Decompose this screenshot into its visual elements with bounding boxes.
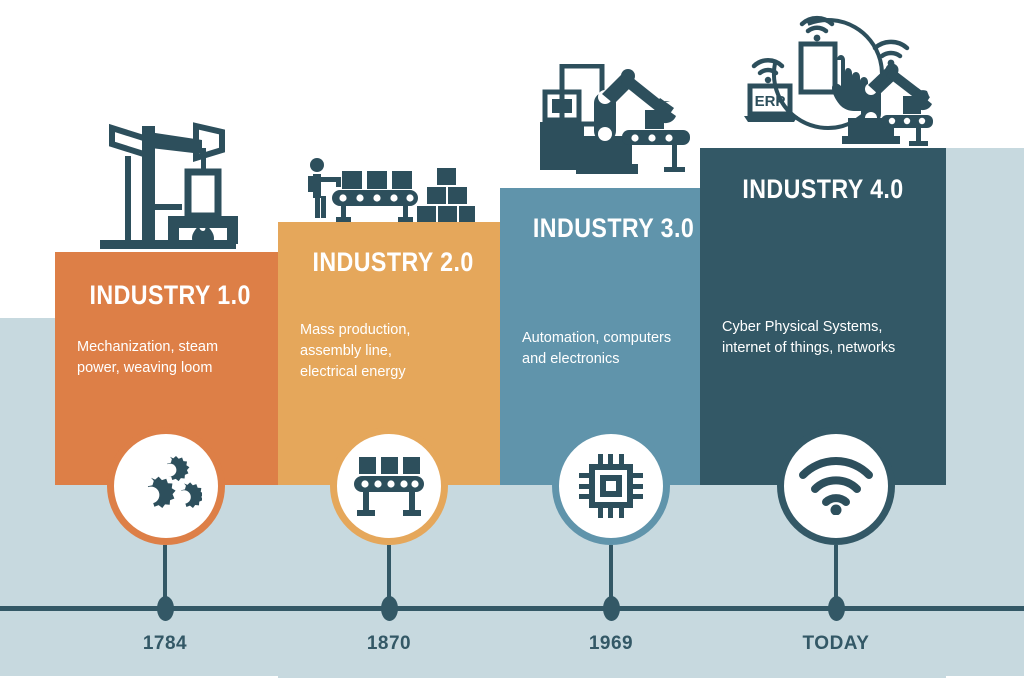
timeline-node-2[interactable] bbox=[381, 596, 398, 621]
iot-network-icon: ERP bbox=[744, 8, 940, 151]
background-band-right bbox=[946, 148, 1024, 676]
era-badge-industry-2[interactable] bbox=[330, 427, 448, 545]
era-title-industry-1: INDUSTRY 1.0 bbox=[90, 280, 244, 311]
wifi-icon bbox=[799, 457, 873, 515]
robot-arm-computer-icon bbox=[532, 64, 692, 181]
infographic-canvas: ERP bbox=[0, 0, 1024, 694]
era-title-industry-2: INDUSTRY 2.0 bbox=[312, 247, 465, 278]
era-description-industry-2: Mass production, assembly line, electric… bbox=[300, 320, 478, 383]
era-title-industry-4: INDUSTRY 4.0 bbox=[736, 174, 910, 205]
era-title-industry-3: INDUSTRY 3.0 bbox=[533, 213, 667, 244]
era-description-industry-4: Cyber Physical Systems, internet of thin… bbox=[722, 317, 924, 359]
era-badge-industry-1[interactable] bbox=[107, 427, 225, 545]
steam-engine-icon bbox=[98, 118, 238, 257]
era-description-industry-3: Automation, computers and electronics bbox=[522, 328, 678, 370]
timeline-year-1870: 1870 bbox=[309, 633, 469, 655]
microchip-icon bbox=[578, 453, 644, 519]
timeline-axis bbox=[0, 606, 1024, 611]
era-badge-industry-4[interactable] bbox=[777, 427, 895, 545]
worker-assembly-line-icon bbox=[300, 158, 475, 229]
timeline-node-1[interactable] bbox=[157, 596, 174, 621]
timeline-year-1969: 1969 bbox=[531, 633, 691, 655]
era-badge-industry-3[interactable] bbox=[552, 427, 670, 545]
gears-icon bbox=[130, 453, 202, 519]
conveyor-belt-icon bbox=[353, 455, 425, 517]
era-description-industry-1: Mechanization, steam power, weaving loom bbox=[77, 337, 256, 379]
timeline-node-3[interactable] bbox=[603, 596, 620, 621]
erp-label: ERP bbox=[755, 93, 786, 110]
timeline-node-4[interactable] bbox=[828, 596, 845, 621]
timeline-year-today: TODAY bbox=[756, 633, 916, 655]
timeline-year-1784: 1784 bbox=[85, 633, 245, 655]
